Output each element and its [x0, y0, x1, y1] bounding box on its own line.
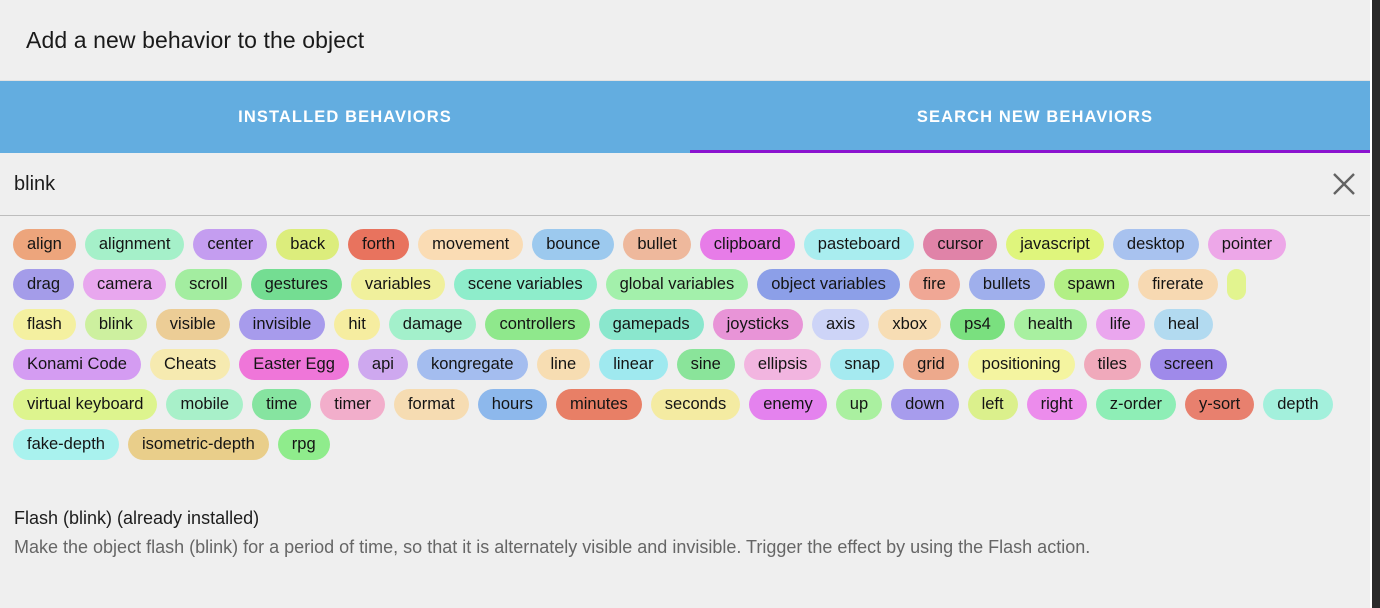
tag-chip[interactable]: forth: [348, 229, 409, 260]
tag-chip[interactable]: health: [1014, 309, 1087, 340]
dialog-header: Add a new behavior to the object: [0, 0, 1380, 81]
behavior-result-description: Make the object flash (blink) for a peri…: [14, 537, 1380, 558]
tag-chip[interactable]: invisible: [239, 309, 326, 340]
tag-chip[interactable]: object variables: [757, 269, 900, 300]
tag-chip[interactable]: line: [537, 349, 591, 380]
tag-chip[interactable]: camera: [83, 269, 166, 300]
tag-chip[interactable]: tiles: [1084, 349, 1141, 380]
tab-search-new-behaviors[interactable]: SEARCH NEW BEHAVIORS: [690, 81, 1380, 153]
tag-chip[interactable]: variables: [351, 269, 445, 300]
tag-chip[interactable]: positioning: [968, 349, 1075, 380]
tag-chip[interactable]: spawn: [1054, 269, 1130, 300]
tag-chip[interactable]: bounce: [532, 229, 614, 260]
behavior-result: Flash (blink) (already installed) Make t…: [0, 464, 1380, 558]
clear-search-button[interactable]: [1316, 156, 1372, 212]
tag-chip[interactable]: heal: [1154, 309, 1213, 340]
tag-chip[interactable]: format: [394, 389, 469, 420]
tag-chip[interactable]: rpg: [278, 429, 330, 460]
tag-chip[interactable]: hit: [334, 309, 379, 340]
tag-chip[interactable]: virtual keyboard: [13, 389, 157, 420]
tag-chip[interactable]: mobile: [166, 389, 243, 420]
tag-chip[interactable]: scene variables: [454, 269, 597, 300]
tag-chip[interactable]: linear: [599, 349, 667, 380]
tag-chip[interactable]: back: [276, 229, 339, 260]
tag-chip[interactable]: right: [1027, 389, 1087, 420]
tag-chip[interactable]: seconds: [651, 389, 740, 420]
behavior-result-title: Flash (blink) (already installed): [14, 508, 1380, 529]
tag-chip[interactable]: javascript: [1006, 229, 1104, 260]
tag-chip[interactable]: y-sort: [1185, 389, 1254, 420]
tag-chip[interactable]: xbox: [878, 309, 941, 340]
tag-chip[interactable]: controllers: [485, 309, 589, 340]
tag-chip[interactable]: isometric-depth: [128, 429, 269, 460]
tag-chip[interactable]: snap: [830, 349, 894, 380]
tab-installed-behaviors-label: INSTALLED BEHAVIORS: [238, 108, 452, 127]
tag-row: Konami CodeCheatsEaster Eggapikongregate…: [8, 344, 1372, 384]
close-icon: [1331, 171, 1357, 197]
tag-chip[interactable]: bullet: [623, 229, 690, 260]
tag-chip[interactable]: life: [1096, 309, 1145, 340]
window-right-edge: [1372, 0, 1380, 608]
tag-chip[interactable]: sine: [677, 349, 735, 380]
tab-installed-behaviors[interactable]: INSTALLED BEHAVIORS: [0, 81, 690, 153]
search-bar: [0, 153, 1380, 216]
tag-row: virtual keyboardmobiletimetimerformathou…: [8, 384, 1372, 424]
tag-chip[interactable]: up: [836, 389, 882, 420]
tag-chip[interactable]: drag: [13, 269, 74, 300]
tag-chip[interactable]: damage: [389, 309, 477, 340]
tag-chip[interactable]: desktop: [1113, 229, 1199, 260]
tag-chip[interactable]: grid: [903, 349, 959, 380]
tag-chip[interactable]: Easter Egg: [239, 349, 349, 380]
tag-chip[interactable]: joysticks: [713, 309, 803, 340]
tag-row: fake-depthisometric-depthrpg: [8, 424, 1372, 464]
search-input[interactable]: [14, 164, 1316, 204]
tag-chip[interactable]: depth: [1263, 389, 1332, 420]
add-behavior-dialog: Add a new behavior to the object INSTALL…: [0, 0, 1380, 608]
tag-chip[interactable]: global variables: [606, 269, 749, 300]
tag-chip[interactable]: screen: [1150, 349, 1228, 380]
tag-chip[interactable]: axis: [812, 309, 869, 340]
tag-chip[interactable]: time: [252, 389, 311, 420]
tag-chip[interactable]: enemy: [749, 389, 827, 420]
tag-chip[interactable]: hours: [478, 389, 547, 420]
tag-chip[interactable]: fire: [909, 269, 960, 300]
tag-chip[interactable]: gamepads: [599, 309, 704, 340]
tag-row: alignalignmentcenterbackforthmovementbou…: [8, 224, 1372, 264]
tag-cloud: alignalignmentcenterbackforthmovementbou…: [0, 216, 1380, 464]
tag-chip[interactable]: fake-depth: [13, 429, 119, 460]
tag-chip[interactable]: flash: [13, 309, 76, 340]
tag-chip[interactable]: api: [358, 349, 408, 380]
tag-chip[interactable]: align: [13, 229, 76, 260]
tab-search-new-behaviors-label: SEARCH NEW BEHAVIORS: [917, 108, 1153, 127]
tag-chip[interactable]: ellipsis: [744, 349, 822, 380]
tag-chip[interactable]: blink: [85, 309, 147, 340]
tag-chip[interactable]: [1227, 269, 1246, 300]
tag-chip[interactable]: ps4: [950, 309, 1005, 340]
page-title: Add a new behavior to the object: [26, 27, 364, 54]
tag-chip[interactable]: Konami Code: [13, 349, 141, 380]
tag-chip[interactable]: movement: [418, 229, 523, 260]
tag-row: dragcamerascrollgesturesvariablesscene v…: [8, 264, 1372, 304]
tag-chip[interactable]: bullets: [969, 269, 1045, 300]
tag-row: flashblinkvisibleinvisiblehitdamagecontr…: [8, 304, 1372, 344]
tag-chip[interactable]: left: [968, 389, 1018, 420]
tag-chip[interactable]: kongregate: [417, 349, 528, 380]
tag-chip[interactable]: cursor: [923, 229, 997, 260]
tag-chip[interactable]: z-order: [1096, 389, 1176, 420]
tag-chip[interactable]: scroll: [175, 269, 242, 300]
tag-chip[interactable]: pasteboard: [804, 229, 915, 260]
tag-chip[interactable]: gestures: [251, 269, 342, 300]
tag-chip[interactable]: visible: [156, 309, 230, 340]
tag-chip[interactable]: Cheats: [150, 349, 230, 380]
tab-bar: INSTALLED BEHAVIORS SEARCH NEW BEHAVIORS: [0, 81, 1380, 153]
tag-chip[interactable]: minutes: [556, 389, 642, 420]
tag-chip[interactable]: clipboard: [700, 229, 795, 260]
tag-chip[interactable]: center: [193, 229, 267, 260]
tag-chip[interactable]: down: [891, 389, 958, 420]
tag-chip[interactable]: timer: [320, 389, 385, 420]
tag-chip[interactable]: pointer: [1208, 229, 1286, 260]
tag-chip[interactable]: firerate: [1138, 269, 1217, 300]
tag-chip[interactable]: alignment: [85, 229, 185, 260]
